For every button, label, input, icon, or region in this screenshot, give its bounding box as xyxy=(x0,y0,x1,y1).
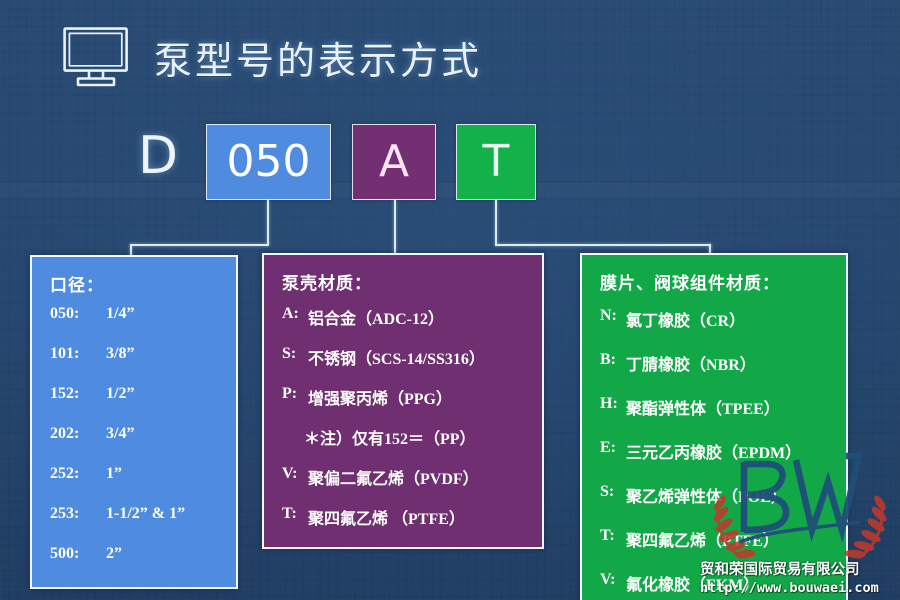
panel-body-material: 泵壳材质： A: 铝合金（ADC-12） S: 不锈钢（SCS-14/SS316… xyxy=(262,253,544,549)
slide-header: 泵型号的表示方式 xyxy=(62,26,482,88)
code-box-body-label: A xyxy=(379,140,409,184)
diaphragm-value: 氟化橡胶（FKM） xyxy=(626,571,834,595)
panel-diaphragm-material: 膜片、阀球组件材质： N: 氯丁橡胶（CR） B: 丁腈橡胶（NBR） H: 聚… xyxy=(580,253,848,600)
connector-diaphragm-horizontal xyxy=(495,244,711,246)
code-prefix-letter: D xyxy=(138,130,178,182)
diaphragm-value: 聚酯弹性体（TPEE） xyxy=(626,395,834,419)
size-value: 1” xyxy=(106,466,224,482)
list-item: E: 三元乙丙橡胶（EPDM） xyxy=(600,439,834,481)
list-item: P: 增强聚丙烯（PPG） xyxy=(282,385,530,423)
list-item: T: 聚四氟乙烯（PTFE） xyxy=(600,527,834,569)
diaphragm-value: 聚四氟乙烯（PTFE） xyxy=(626,527,834,551)
panel-size-heading: 口径： xyxy=(50,271,224,296)
body-key: A: xyxy=(282,305,308,323)
size-value: 2” xyxy=(106,546,224,562)
size-value: 1/4” xyxy=(106,306,224,322)
monitor-icon xyxy=(62,26,130,88)
list-item: H: 聚酯弹性体（TPEE） xyxy=(600,395,834,437)
connector-body-vertical xyxy=(394,200,396,254)
body-value: 增强聚丙烯（PPG） xyxy=(308,385,530,409)
size-key: 500: xyxy=(50,546,106,562)
body-key: S: xyxy=(282,345,308,363)
body-value: 铝合金（ADC-12） xyxy=(308,305,530,329)
code-box-body[interactable]: A xyxy=(352,124,436,200)
connector-size-horizontal xyxy=(130,244,269,246)
list-item: V: 聚偏二氟乙烯（PVDF） xyxy=(282,465,530,503)
diaphragm-key: T: xyxy=(600,527,626,545)
size-key: 253: xyxy=(50,506,106,522)
connector-size-vertical-upper xyxy=(267,200,269,245)
panel-diaphragm-heading: 膜片、阀球组件材质： xyxy=(600,269,834,294)
diaphragm-value: 丁腈橡胶（NBR） xyxy=(626,351,834,375)
size-key: 152: xyxy=(50,386,106,402)
diaphragm-key: E: xyxy=(600,439,626,457)
size-key: 202: xyxy=(50,426,106,442)
list-item: T: 聚四氟乙烯 （PTFE） xyxy=(282,505,530,543)
code-box-diaphragm-label: T xyxy=(483,140,510,184)
list-item: 253: 1-1/2” & 1” xyxy=(50,506,224,544)
body-value: 聚偏二氟乙烯（PVDF） xyxy=(308,465,530,489)
list-item: S: 不锈钢（SCS-14/SS316） xyxy=(282,345,530,383)
slide-canvas: 泵型号的表示方式 D 050 A T 口径： 050: 1/4” 101: 3/… xyxy=(0,0,900,600)
diaphragm-key: N: xyxy=(600,307,626,325)
body-key: T: xyxy=(282,505,308,523)
body-value: 聚四氟乙烯 （PTFE） xyxy=(308,505,530,529)
page-title: 泵型号的表示方式 xyxy=(154,30,482,85)
size-value: 3/4” xyxy=(106,426,224,442)
list-item: S: 聚乙烯弹性体（POE） xyxy=(600,483,834,525)
diaphragm-value: 聚乙烯弹性体（POE） xyxy=(626,483,834,507)
body-note: ＊注）仅有152＝（PP） xyxy=(304,425,530,449)
list-item: 101: 3/8” xyxy=(50,346,224,384)
list-item: B: 丁腈橡胶（NBR） xyxy=(600,351,834,393)
diaphragm-key: S: xyxy=(600,483,626,501)
size-value: 1/2” xyxy=(106,386,224,402)
list-item: 202: 3/4” xyxy=(50,426,224,464)
list-item: A: 铝合金（ADC-12） xyxy=(282,305,530,343)
diaphragm-value: 三元乙丙橡胶（EPDM） xyxy=(626,439,834,463)
list-item-note: ＊注）仅有152＝（PP） xyxy=(282,425,530,463)
list-item: V: 氟化橡胶（FKM） xyxy=(600,571,834,600)
list-item: 500: 2” xyxy=(50,546,224,584)
diaphragm-key: B: xyxy=(600,351,626,369)
code-box-size-label: 050 xyxy=(227,140,311,184)
body-key: V: xyxy=(282,465,308,483)
body-value: 不锈钢（SCS-14/SS316） xyxy=(308,345,530,369)
size-key: 101: xyxy=(50,346,106,362)
diaphragm-key: H: xyxy=(600,395,626,413)
background-band xyxy=(0,183,900,197)
size-key: 050: xyxy=(50,306,106,322)
body-key: P: xyxy=(282,385,308,403)
panel-body-heading: 泵壳材质： xyxy=(282,269,530,294)
size-key: 252: xyxy=(50,466,106,482)
code-box-diaphragm[interactable]: T xyxy=(456,124,536,200)
list-item: 152: 1/2” xyxy=(50,386,224,424)
size-value: 1-1/2” & 1” xyxy=(106,506,224,522)
code-box-size[interactable]: 050 xyxy=(206,124,331,200)
list-item: N: 氯丁橡胶（CR） xyxy=(600,307,834,349)
list-item: 252: 1” xyxy=(50,466,224,504)
size-value: 3/8” xyxy=(106,346,224,362)
connector-diaphragm-vertical-upper xyxy=(495,200,497,245)
diaphragm-key: V: xyxy=(600,571,626,589)
list-item: 050: 1/4” xyxy=(50,306,224,344)
panel-size: 口径： 050: 1/4” 101: 3/8” 152: 1/2” 202: 3… xyxy=(30,255,238,589)
diaphragm-value: 氯丁橡胶（CR） xyxy=(626,307,834,331)
